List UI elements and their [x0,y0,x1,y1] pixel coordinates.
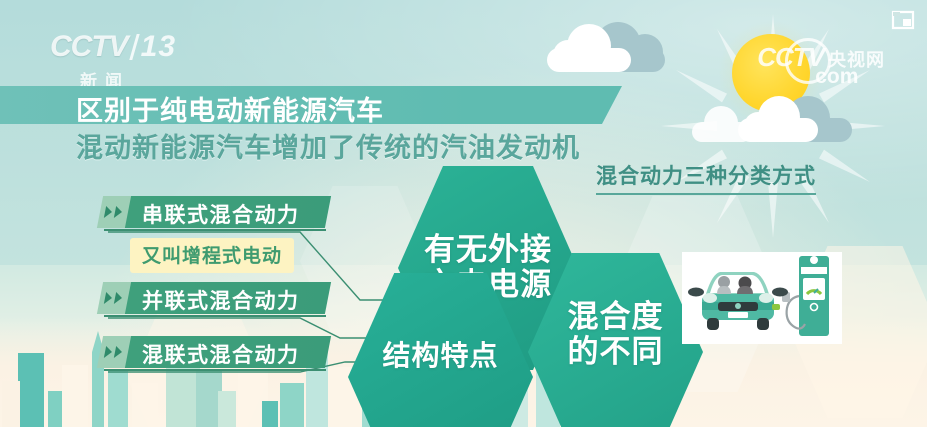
label-row-series-parallel[interactable]: 混联式混合动力 [100,336,330,368]
watermark-ring-icon [785,38,831,84]
label-underline-1 [104,229,326,231]
channel-logo: CCTV13 新闻 [50,30,210,92]
channel-number: 13 [141,30,176,63]
label-underline-3 [104,369,326,371]
label-text-series-parallel: 混联式混合动力 [142,339,300,365]
cloud-icon-1 [545,22,643,74]
ev-charging-illustration [682,252,842,344]
note-chip-text: 又叫增程式电动 [142,241,282,268]
label-row-parallel[interactable]: 并联式混合动力 [100,282,330,314]
cloud-icon-3 [690,104,760,144]
headline-line-1: 区别于纯电动新能源汽车 [76,89,384,128]
picture-in-picture-icon[interactable] [891,10,915,30]
label-text-parallel: 并联式混合动力 [142,285,300,311]
car [688,272,788,330]
label-underline-2 [104,315,326,317]
driver [717,276,731,294]
charging-station [799,256,829,336]
label-row-series[interactable]: 串联式混合动力 [100,196,330,228]
channel-logo-text: CCTV [50,30,128,63]
label-text-series: 串联式混合动力 [142,199,300,225]
hexagon-hybrid-degree-line2: 的不同 [568,335,664,370]
hexagon-external-charging-line1: 有无外接 [424,233,552,268]
broadcast-frame: CCTV13 新闻 CCTV央视网 com 区别于纯电动新能源汽车 混动新能源汽… [0,0,927,427]
section-subheading: 混合动力三种分类方式 [596,160,816,195]
hexagon-hybrid-degree-line1: 混合度 [568,300,664,335]
hexagon-structure-line1: 结构特点 [382,340,498,371]
note-chip: 又叫增程式电动 [130,238,294,273]
headline-line-2: 混动新能源汽车增加了传统的汽油发动机 [76,126,580,165]
